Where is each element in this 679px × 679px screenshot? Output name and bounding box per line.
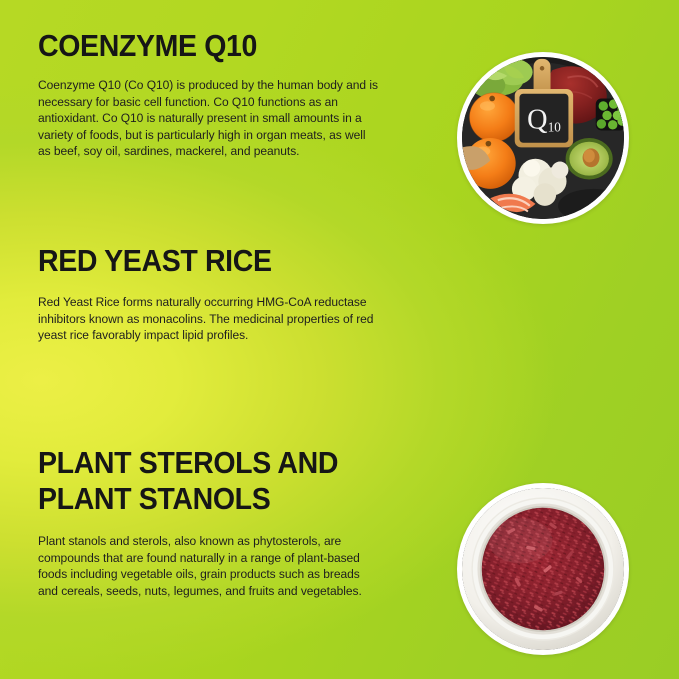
redyeast-text-column: RED YEAST RICE Red Yeast Rice forms natu… xyxy=(38,243,390,344)
sterols-heading: PLANT STEROLS AND PLANT STANOLS xyxy=(38,445,362,517)
infographic-canvas: COENZYME Q10 Coenzyme Q10 (Co Q10) is pr… xyxy=(0,0,679,679)
coenzyme-text-column: COENZYME Q10 Coenzyme Q10 (Co Q10) is pr… xyxy=(38,28,390,160)
svg-text:Q: Q xyxy=(527,105,547,136)
coenzyme-photo-illustration: Q 10 xyxy=(462,57,624,219)
sterols-body-text: Plant stanols and sterols, also known as… xyxy=(38,533,379,599)
section-plant-sterols-stanols: PLANT STEROLS AND PLANT STANOLS Plant st… xyxy=(0,445,679,645)
section-coenzyme-q10: COENZYME Q10 Coenzyme Q10 (Co Q10) is pr… xyxy=(0,28,679,228)
redyeast-body-text: Red Yeast Rice forms naturally occurring… xyxy=(38,294,379,344)
coenzyme-q10-foods-photo: Q 10 xyxy=(457,52,629,224)
section-red-yeast-rice: RED YEAST RICE Red Yeast Rice forms natu… xyxy=(0,243,679,433)
coenzyme-photo-frame: Q 10 xyxy=(462,57,624,219)
coenzyme-body-text: Coenzyme Q10 (Co Q10) is produced by the… xyxy=(38,77,379,160)
svg-text:10: 10 xyxy=(548,119,562,134)
coenzyme-heading: COENZYME Q10 xyxy=(38,28,362,64)
redyeast-heading: RED YEAST RICE xyxy=(38,243,362,279)
sterols-text-column: PLANT STEROLS AND PLANT STANOLS Plant st… xyxy=(38,445,390,599)
